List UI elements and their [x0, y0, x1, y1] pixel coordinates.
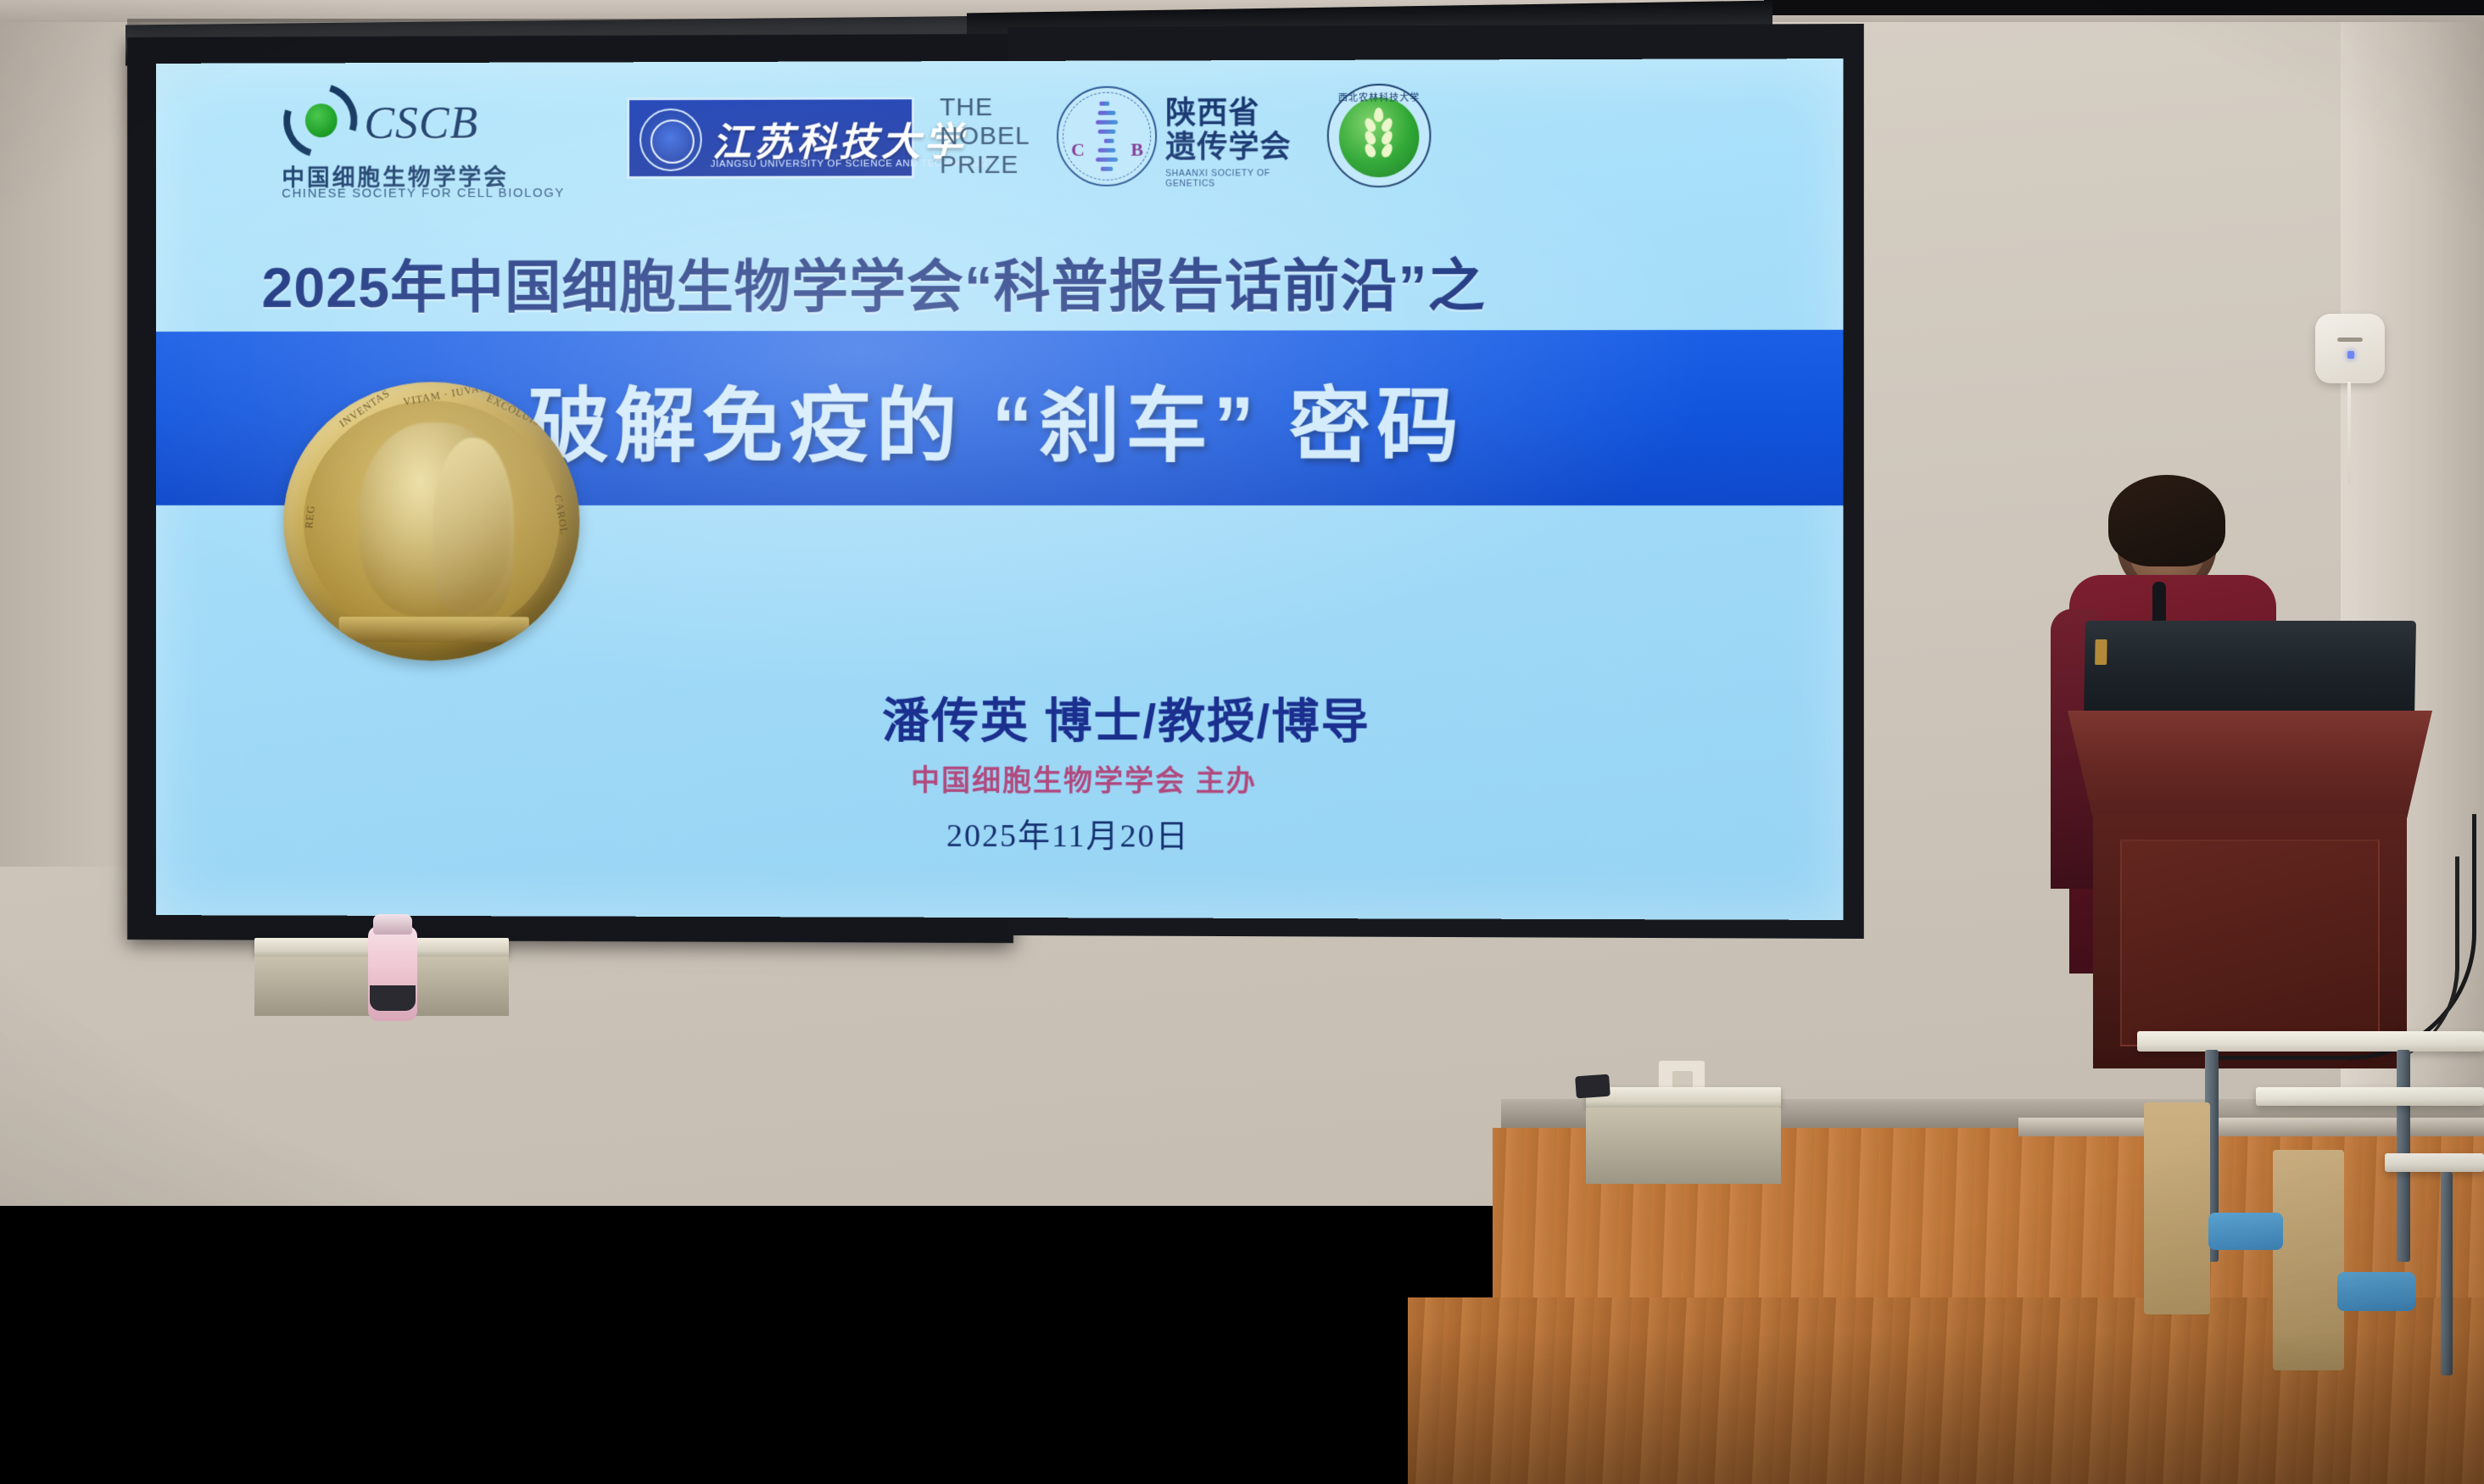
laptop-badge-icon [2095, 639, 2107, 665]
shaanxi-cb-letter-c: C [1071, 139, 1085, 161]
nobel-line-2: NOBEL [940, 122, 1040, 151]
wifi-vent-icon [2337, 338, 2363, 342]
lecture-hall-photo: CSCB 中国细胞生物学学会 CHINESE SOCIETY FOR CELL … [0, 0, 2484, 1484]
water-bottle-cap[interactable] [373, 914, 412, 934]
water-bottle-base [370, 985, 416, 1011]
audience-desk-back-right [1586, 1087, 1781, 1107]
shaanxi-cell-biology-logo: C B [1057, 86, 1157, 186]
stage-edge [2018, 1118, 2484, 1136]
nobel-line-3: PRIZE [940, 151, 1040, 180]
ceiling-dark-strip [1764, 0, 2484, 15]
wifi-status-led [2347, 351, 2354, 359]
cscb-name-en: CHINESE SOCIETY FOR CELL BIOLOGY [282, 186, 565, 201]
nwafu-name-cn: 西北农林科技大学 [1336, 91, 1423, 125]
slide-organizer: 中国细胞生物学学会 主办 [156, 762, 1844, 801]
nobel-medal-image: INVENTAS VITAM · IUVAT EXCOLUISSE REG CA… [283, 382, 579, 661]
slide-logo-row: CSCB 中国细胞生物学学会 CHINESE SOCIETY FOR CELL … [156, 69, 1844, 213]
shaanxi-genetics-logo: 陕西省 遗传学会 SHAANXI SOCIETY OF GENETICS [1165, 96, 1301, 189]
side-chair-back-1[interactable] [2144, 1102, 2210, 1314]
side-table-top-near [2256, 1087, 2484, 1106]
wifi-access-point [2315, 314, 2385, 383]
cscb-acronym: CSCB [364, 97, 478, 149]
audience-desk-side-back-right [1586, 1107, 1781, 1184]
slide-main-title: 破解免疫的 “刹车” 密码 [528, 359, 1465, 477]
smartphone-on-desk[interactable] [1575, 1074, 1610, 1099]
slide-speaker-name: 潘传英 博士/教授/博导 [156, 693, 1844, 750]
shaanxi-genetics-name-en: SHAANXI SOCIETY OF GENETICS [1165, 168, 1301, 188]
northwest-a-and-f-university-logo: 西北农林科技大学 [1327, 84, 1432, 188]
podium-top [2068, 711, 2432, 819]
presenter-hair [2108, 475, 2225, 566]
cscb-logo: CSCB 中国细胞生物学学会 CHINESE SOCIETY FOR CELL … [280, 79, 557, 206]
presenter-laptop[interactable] [2084, 621, 2416, 721]
side-table-leg-3 [2441, 1172, 2453, 1375]
jiangsu-university-logo: 江苏科技大学 JIANGSU UNIVERSITY OF SCIENCE AND… [627, 97, 914, 179]
side-chair-seat-2[interactable] [2337, 1272, 2415, 1311]
slide-date: 2025年11月20日 [156, 814, 1844, 859]
left-wall [0, 19, 140, 867]
shaanxi-cb-letter-b: B [1130, 139, 1143, 161]
cscb-mark-icon [280, 80, 360, 161]
side-table-top-edge [2385, 1153, 2484, 1172]
dna-helix-icon [1096, 100, 1118, 173]
presentation-slide: CSCB 中国细胞生物学学会 CHINESE SOCIETY FOR CELL … [156, 59, 1844, 920]
shaanxi-genetics-line-1: 陕西省 [1165, 96, 1301, 130]
wifi-cable [2347, 382, 2351, 483]
jiangsu-seal-icon [639, 109, 702, 171]
nobel-line-1: THE [940, 93, 1040, 122]
side-table-top-far [2137, 1031, 2484, 1052]
nobel-prize-logo: THE NOBEL PRIZE [940, 93, 1040, 180]
side-chair-seat-1[interactable] [2208, 1213, 2283, 1250]
slide-title-line-1: 2025年中国细胞生物学学会“科普报告话前沿”之 [156, 253, 1844, 321]
side-chair-back-2[interactable] [2273, 1150, 2344, 1370]
shaanxi-genetics-line-2: 遗传学会 [1165, 130, 1301, 164]
